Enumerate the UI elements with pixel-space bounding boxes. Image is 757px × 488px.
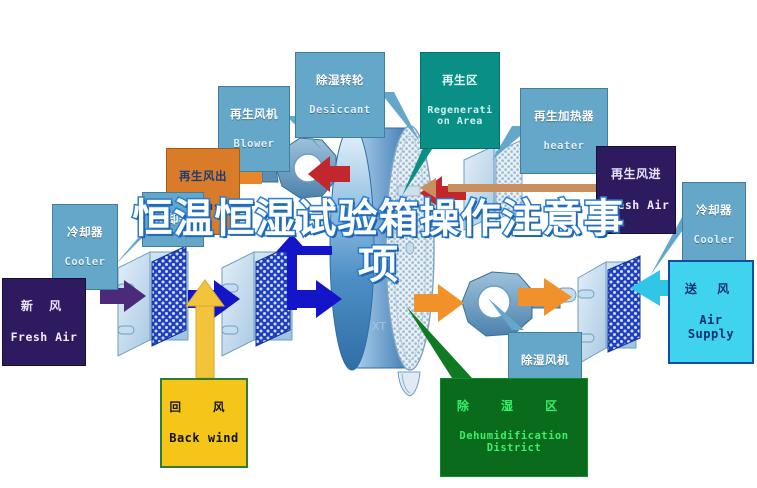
- label-cooler-mid-cn: 冷却器: [147, 213, 199, 226]
- label-air-supply-en: Air Supply: [674, 314, 748, 341]
- label-regeneration-exhaust-cn: 再生风出: [171, 170, 235, 183]
- label-dehumidification-district-cn: 除 湿 区: [445, 400, 583, 413]
- label-dehumidification-district-en: Dehumidification District: [445, 431, 583, 455]
- svg-text:XT: XT: [372, 320, 386, 333]
- label-regeneration-fresh-air-cn: 再生风进: [601, 168, 671, 181]
- label-air-supply: 送 风 Air Supply: [668, 260, 754, 364]
- label-cooler-right: 冷却器 Cooler: [682, 182, 746, 268]
- label-fresh-air-en: Fresh Air: [7, 331, 81, 344]
- label-regeneration-area-en: Regenerati on Area: [425, 105, 495, 127]
- label-desiccant: 除湿转轮 Desiccant: [295, 52, 385, 138]
- label-regeneration-fresh-air-en: Fresh Air: [601, 199, 671, 212]
- arrow-air-flow-top: [292, 246, 332, 255]
- label-fresh-air-cn: 新 风: [7, 300, 81, 313]
- label-regeneration-heater-en: heater: [525, 141, 603, 153]
- label-desiccant-en: Desiccant: [300, 105, 380, 117]
- label-dehumidification-blower-cn: 除湿风机: [513, 354, 577, 367]
- label-desiccant-cn: 除湿转轮: [300, 74, 380, 87]
- label-regeneration-heater: 再生加热器 heater: [520, 88, 608, 174]
- label-regeneration-heater-cn: 再生加热器: [525, 110, 603, 123]
- label-back-wind-en: Back wind: [166, 432, 242, 445]
- label-back-wind: 回 风 Back wind: [160, 378, 248, 468]
- label-regeneration-area-cn: 再生区: [425, 74, 495, 87]
- label-fresh-air: 新 风 Fresh Air: [2, 278, 86, 366]
- label-back-wind-cn: 回 风: [166, 401, 242, 414]
- label-regeneration-blower-cn: 再生风机: [223, 108, 285, 121]
- label-cooler-left-cn: 冷却器: [57, 226, 113, 239]
- diagram-canvas: XT: [0, 0, 757, 488]
- label-regeneration-fresh-air: 再生风进 Fresh Air: [596, 146, 676, 234]
- label-regeneration-area: 再生区 Regenerati on Area: [420, 52, 500, 149]
- label-cooler-right-cn: 冷却器: [687, 204, 741, 217]
- label-air-supply-cn: 送 风: [674, 283, 748, 296]
- label-dehumidification-district: 除 湿 区 Dehumidification District: [440, 378, 588, 477]
- label-cooler-right-en: Cooler: [687, 235, 741, 247]
- label-cooler-left-en: Cooler: [57, 257, 113, 269]
- label-cooler-mid: 冷却器: [142, 192, 204, 247]
- cooling-coil-unit-3: [578, 256, 640, 364]
